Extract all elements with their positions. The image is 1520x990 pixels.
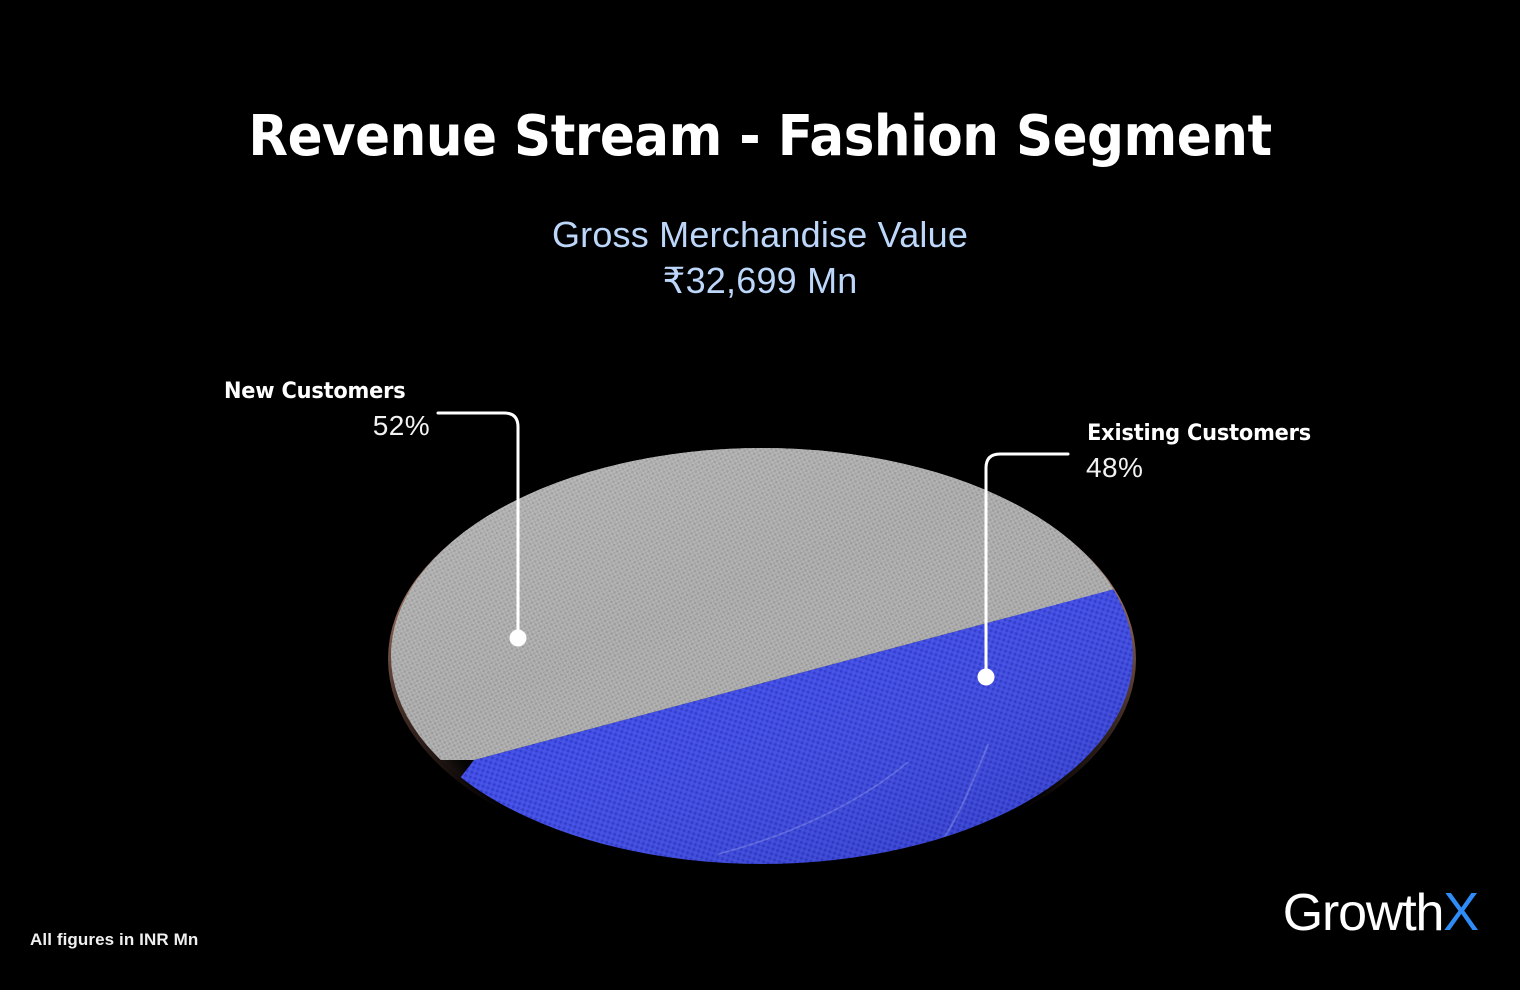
footnote: All figures in INR Mn <box>30 930 198 950</box>
callout-label-new-customers: New Customers <box>224 379 424 404</box>
gmv-label: Gross Merchandise Value <box>0 212 1520 258</box>
slide-canvas: Revenue Stream - Fashion Segment Gross M… <box>0 0 1520 990</box>
pie-sheen <box>391 448 1133 864</box>
callout-existing-customers: Existing Customers 48% <box>1074 421 1336 484</box>
growthx-logo: GrowthX <box>1283 884 1478 941</box>
gmv-value: ₹32,699 Mn <box>0 258 1520 304</box>
subtitle-block: Gross Merchandise Value ₹32,699 Mn <box>0 212 1520 304</box>
logo-wordmark: Growth <box>1283 884 1443 942</box>
callout-percent-new-customers: 52% <box>224 410 434 442</box>
callout-label-existing-customers: Existing Customers <box>1087 421 1336 446</box>
callout-new-customers: New Customers 52% <box>224 379 434 442</box>
page-title: Revenue Stream - Fashion Segment <box>61 104 1459 169</box>
callout-percent-existing-customers: 48% <box>1074 452 1336 484</box>
pie-chart <box>388 444 1136 868</box>
logo-x-mark: X <box>1443 882 1478 942</box>
